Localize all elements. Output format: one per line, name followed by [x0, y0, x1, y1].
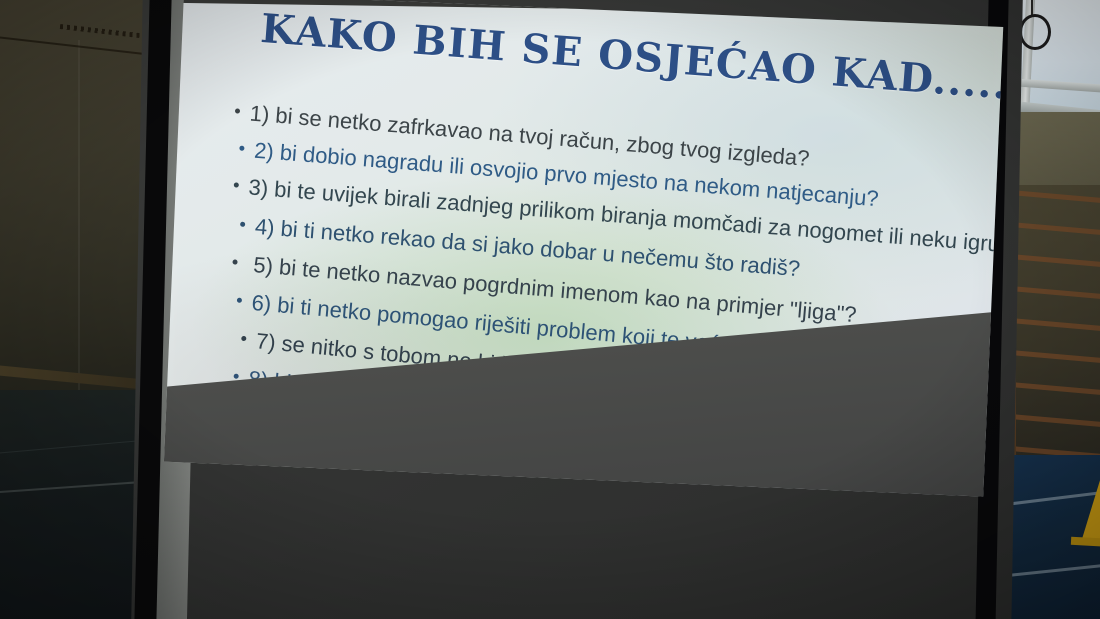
slide-surface: KAKO BIH SE OSJEĆAO KAD..... 1) bi se ne… [164, 0, 1003, 497]
projected-slide: KAKO BIH SE OSJEĆAO KAD..... 1) bi se ne… [163, 0, 1004, 527]
training-cone [1081, 477, 1100, 543]
bullet-dot-icon [239, 146, 244, 151]
bullet-dot-icon [240, 221, 245, 226]
bullet-number: 6) [251, 290, 273, 318]
bullet-number: 2) [253, 138, 275, 165]
gym-ring-right-icon [1019, 14, 1051, 50]
bullet-dot-icon [234, 183, 239, 188]
bullet-dot-icon [241, 336, 246, 341]
left-wall-seam [78, 40, 80, 430]
photo-scene: KAKO BIH SE OSJEĆAO KAD..... 1) bi se ne… [0, 0, 1100, 619]
bullet-number: 5) [252, 252, 274, 280]
bullet-dot-icon [237, 298, 242, 303]
bullet-number: 3) [248, 175, 269, 202]
bullet-number: 4) [254, 214, 276, 241]
bullet-dot-icon [232, 259, 237, 264]
bullet-number: 7) [255, 329, 277, 357]
bullet-number: 1) [249, 101, 271, 129]
bullet-dot-icon [233, 374, 238, 379]
bullet-dot-icon [235, 108, 240, 113]
